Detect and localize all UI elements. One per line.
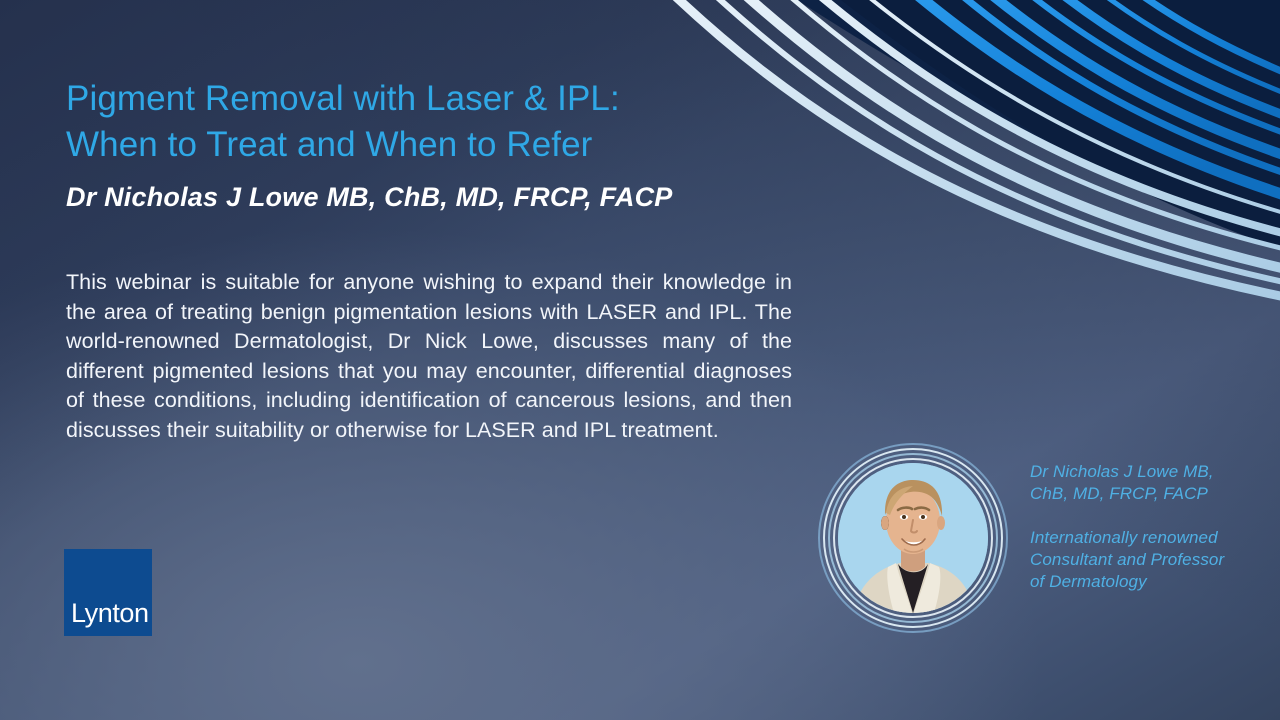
speaker-name-line-1: Dr Nicholas J Lowe MB, — [1030, 461, 1262, 483]
lynton-logo: Lynton — [64, 549, 152, 636]
speaker-role-line-1: Internationally renowned — [1030, 527, 1262, 549]
speaker-portrait — [818, 443, 1008, 633]
presenter-subtitle: Dr Nicholas J Lowe MB, ChB, MD, FRCP, FA… — [66, 180, 766, 214]
page-title-line-1: Pigment Removal with Laser & IPL: — [66, 76, 766, 122]
speaker-name-line-2: ChB, MD, FRCP, FACP — [1030, 483, 1262, 505]
title-block: Pigment Removal with Laser & IPL: When t… — [66, 76, 766, 214]
webinar-description: This webinar is suitable for anyone wish… — [66, 268, 792, 445]
presentation-slide: Pigment Removal with Laser & IPL: When t… — [0, 0, 1280, 720]
speaker-role-line-3: of Dermatology — [1030, 571, 1262, 593]
webinar-description-text: This webinar is suitable for anyone wish… — [66, 268, 792, 445]
portrait-photo — [838, 463, 988, 613]
page-title-line-2: When to Treat and When to Refer — [66, 122, 766, 168]
speaker-role-line-2: Consultant and Professor — [1030, 549, 1262, 571]
speaker-caption: Dr Nicholas J Lowe MB, ChB, MD, FRCP, FA… — [1030, 461, 1262, 593]
lynton-logo-text: Lynton — [71, 600, 149, 627]
